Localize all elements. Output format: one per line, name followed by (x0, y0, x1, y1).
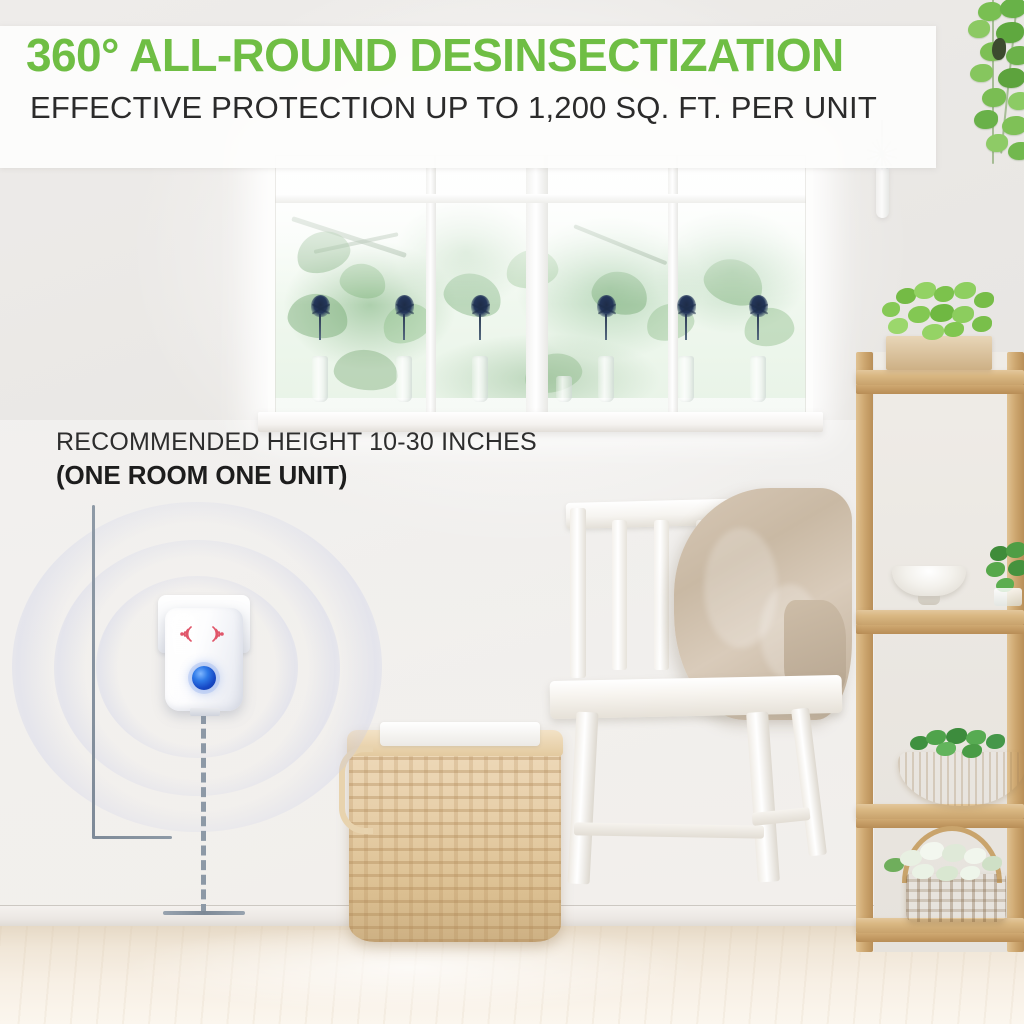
wall-hanging-glass-bottle (876, 166, 889, 218)
callout-text-block: RECOMMENDED HEIGHT 10-30 INCHES (ONE ROO… (56, 428, 596, 490)
one-room-one-unit-text: (ONE ROOM ONE UNIT) (56, 460, 596, 490)
vertical-drop-guide (201, 714, 206, 914)
white-wooden-chair (556, 494, 856, 944)
sound-wave-right-icon (208, 623, 228, 645)
device-plug-prongs (190, 708, 220, 716)
top-shelf-plant (878, 280, 1002, 342)
ultrasonic-pest-repeller[interactable] (152, 592, 256, 716)
page-title: 360° ALL-ROUND DESINSECTIZATION (26, 32, 916, 78)
recommended-height-text: RECOMMENDED HEIGHT 10-30 INCHES (56, 428, 596, 457)
window-frame (268, 148, 813, 420)
power-indicator-led (192, 666, 216, 690)
headline-banner: 360° ALL-ROUND DESINSECTIZATION EFFECTIV… (0, 26, 936, 168)
height-measure-foot (92, 836, 172, 839)
white-flower-arrangement (882, 840, 1018, 884)
page-subtitle: EFFECTIVE PROTECTION UP TO 1,200 SQ. FT.… (30, 92, 916, 123)
product-scene: RECOMMENDED HEIGHT 10-30 INCHES (ONE ROO… (0, 0, 1024, 1024)
third-shelf-greens (906, 726, 1022, 760)
floor-reference-marker (163, 911, 245, 915)
height-measure-line (92, 505, 95, 838)
floor-light-glow (90, 930, 730, 1024)
second-shelf-plant (984, 542, 1024, 606)
basket-cloth-liner (380, 722, 540, 746)
sound-wave-left-icon (176, 623, 196, 645)
wooden-shelving-unit (856, 352, 1024, 952)
trailing-green-plant (962, 0, 1024, 172)
bright-window (268, 148, 813, 420)
